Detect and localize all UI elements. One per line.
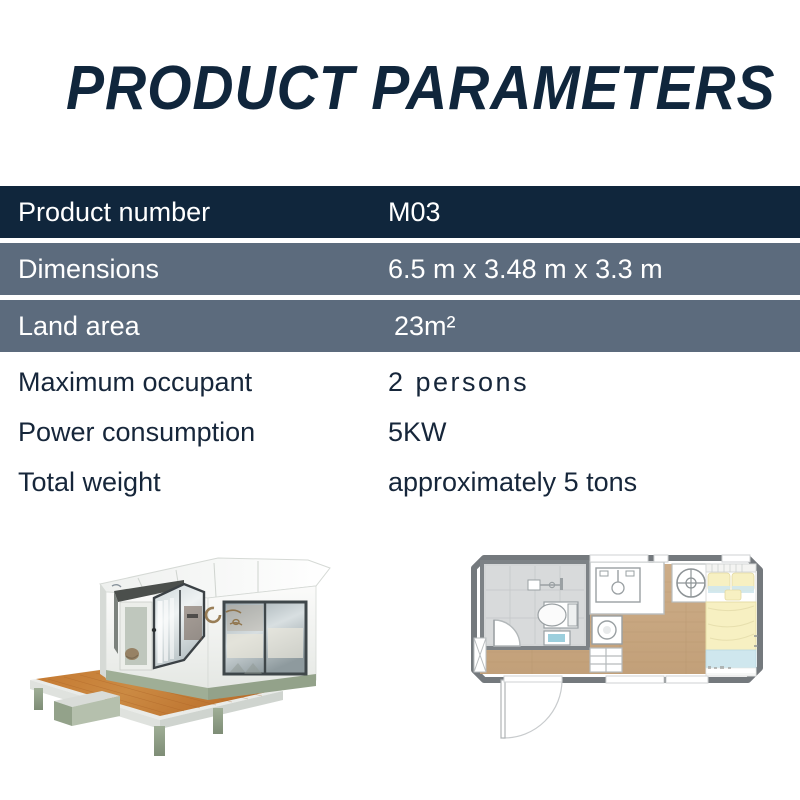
product-parameters-table: Product number M03 Dimensions 6.5 m x 3.… bbox=[0, 186, 800, 507]
cushion bbox=[725, 590, 741, 600]
kitchen-sink bbox=[596, 568, 640, 602]
left-window bbox=[474, 638, 486, 672]
bathroom-area bbox=[482, 562, 588, 648]
row-value: approximately 5 tons bbox=[388, 467, 637, 498]
media-strip bbox=[0, 528, 800, 800]
wall-decal-small bbox=[125, 648, 139, 660]
capsule-house-exterior-photo bbox=[8, 528, 400, 800]
floor-plan-top-view bbox=[440, 528, 790, 788]
table-row: Land area 23m² bbox=[0, 300, 800, 352]
bed-area bbox=[706, 564, 756, 676]
round-fixture bbox=[672, 564, 710, 602]
table-row: Maximum occupant 2 persons bbox=[0, 357, 800, 407]
table-row: Total weight approximately 5 tons bbox=[0, 457, 800, 507]
table-row: Power consumption 5KW bbox=[0, 407, 800, 457]
row-label: Power consumption bbox=[18, 417, 255, 448]
sliding-door-openings-bottom bbox=[606, 676, 708, 683]
row-label: Product number bbox=[18, 197, 210, 228]
house-body bbox=[100, 558, 330, 700]
table-row: Product number M03 bbox=[0, 186, 800, 238]
row-value: 23m² bbox=[394, 311, 456, 342]
page-title: PRODUCT PARAMETERS bbox=[66, 58, 776, 120]
table-row: Dimensions 6.5 m x 3.48 m x 3.3 m bbox=[0, 243, 800, 295]
row-value: 2 persons bbox=[388, 367, 529, 398]
storage-shelf bbox=[590, 648, 622, 672]
washing-machine bbox=[592, 616, 622, 644]
basin-fixture bbox=[544, 631, 570, 645]
entry-door-swing bbox=[501, 676, 562, 738]
door-leaf bbox=[501, 680, 505, 738]
row-value: M03 bbox=[388, 197, 441, 228]
door-handle bbox=[152, 628, 156, 632]
row-label: Dimensions bbox=[18, 254, 159, 285]
row-label: Total weight bbox=[18, 467, 161, 498]
toilet-fixture bbox=[538, 602, 578, 628]
row-label: Land area bbox=[18, 311, 140, 342]
row-value: 6.5 m x 3.48 m x 3.3 m bbox=[388, 254, 663, 285]
row-label: Maximum occupant bbox=[18, 367, 252, 398]
deck-leg bbox=[34, 688, 43, 710]
row-value: 5KW bbox=[388, 417, 447, 448]
deck-leg bbox=[154, 726, 165, 756]
deck-leg bbox=[213, 708, 223, 734]
